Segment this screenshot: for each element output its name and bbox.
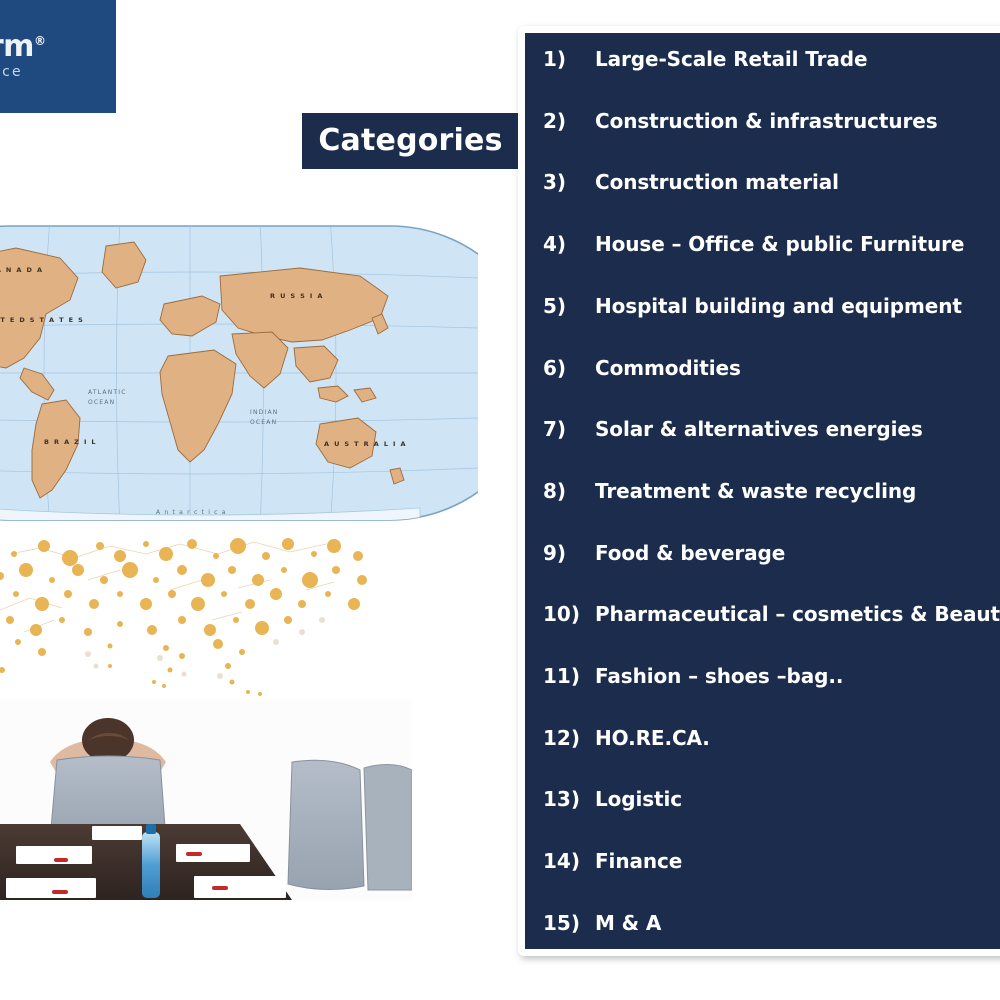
list-item-number: 5)	[543, 294, 595, 318]
list-item[interactable]: 8) Treatment & waste recycling	[525, 479, 1000, 503]
list-item-number: 1)	[543, 47, 595, 71]
list-item-number: 14)	[543, 849, 595, 873]
categories-panel: 1) Large-Scale Retail Trade 2) Construct…	[518, 26, 1000, 956]
chair-right-1	[288, 760, 364, 889]
list-item-number: 8)	[543, 479, 595, 503]
list-item[interactable]: 13) Logistic	[525, 787, 1000, 811]
list-item-number: 9)	[543, 541, 595, 565]
list-item[interactable]: 4) House – Office & public Furniture	[525, 232, 1000, 256]
list-item-number: 10)	[543, 602, 595, 626]
chair-right-2	[364, 764, 412, 890]
svg-text:C A N A D A: C A N A D A	[0, 266, 43, 274]
list-item[interactable]: 10) Pharmaceutical – cosmetics & Beauty	[525, 602, 1000, 626]
list-item[interactable]: 5) Hospital building and equipment	[525, 294, 1000, 318]
world-map-image: R U S S I A C A N A D A U N I T E D S T …	[0, 218, 478, 528]
list-item-label: Large-Scale Retail Trade	[595, 47, 867, 71]
svg-text:INDIAN: INDIAN	[250, 409, 278, 416]
list-item[interactable]: 7) Solar & alternatives energies	[525, 417, 1000, 441]
svg-text:OCEAN: OCEAN	[88, 399, 115, 406]
list-item-label: Logistic	[595, 787, 682, 811]
svg-text:ATLANTIC: ATLANTIC	[88, 389, 127, 396]
list-item[interactable]: 1) Large-Scale Retail Trade	[525, 47, 1000, 71]
page-title-bar: Categories	[302, 113, 519, 169]
list-item-number: 12)	[543, 726, 595, 750]
svg-text:U N I T E D S T A T E S: U N I T E D S T A T E S	[0, 316, 84, 324]
list-item-label: M & A	[595, 911, 661, 935]
list-item[interactable]: 14) Finance	[525, 849, 1000, 873]
list-item[interactable]: 15) M & A	[525, 911, 1000, 935]
logo-wordmark: Form®	[0, 29, 45, 64]
categories-list: 1) Large-Scale Retail Trade 2) Construct…	[525, 33, 1000, 949]
list-item-number: 3)	[543, 170, 595, 194]
list-item-label: Food & beverage	[595, 541, 785, 565]
svg-text:R U S S I A: R U S S I A	[270, 292, 324, 300]
list-item[interactable]: 6) Commodities	[525, 356, 1000, 380]
logo-wordmark-text: Form	[0, 29, 34, 64]
list-item-label: Fashion – shoes –bag..	[595, 664, 843, 688]
list-item-label: HO.RE.CA.	[595, 726, 710, 750]
list-item-number: 7)	[543, 417, 595, 441]
list-item-number: 13)	[543, 787, 595, 811]
list-item-label: Pharmaceutical – cosmetics & Beauty	[595, 602, 1000, 626]
list-item-number: 6)	[543, 356, 595, 380]
list-item-label: Construction material	[595, 170, 839, 194]
list-item-label: Solar & alternatives energies	[595, 417, 923, 441]
brand-logo[interactable]: Form® t choice	[0, 0, 116, 113]
svg-text:OCEAN: OCEAN	[250, 419, 277, 426]
svg-text:A n t a r c t i c a: A n t a r c t i c a	[156, 509, 227, 516]
list-item[interactable]: 3) Construction material	[525, 170, 1000, 194]
list-item-number: 15)	[543, 911, 595, 935]
list-item[interactable]: 9) Food & beverage	[525, 541, 1000, 565]
logo-tagline: t choice	[0, 64, 23, 80]
list-item-number: 4)	[543, 232, 595, 256]
registered-trademark-icon: ®	[34, 34, 46, 48]
list-item-label: Construction & infrastructures	[595, 109, 938, 133]
list-item-label: Finance	[595, 849, 682, 873]
page-title: Categories	[318, 126, 502, 156]
list-item[interactable]: 12) HO.RE.CA.	[525, 726, 1000, 750]
slide-canvas: Form® t choice Categories	[0, 0, 1000, 1000]
dot-network-world-graphic	[0, 524, 390, 704]
svg-text:A U S T R A L I A: A U S T R A L I A	[324, 440, 407, 448]
list-item-number: 2)	[543, 109, 595, 133]
list-item[interactable]: 2) Construction & infrastructures	[525, 109, 1000, 133]
list-item-label: Hospital building and equipment	[595, 294, 962, 318]
svg-text:B R A Z I L: B R A Z I L	[44, 438, 97, 446]
list-item-label: House – Office & public Furniture	[595, 232, 964, 256]
water-bottle	[142, 824, 160, 898]
list-item-label: Treatment & waste recycling	[595, 479, 916, 503]
list-item[interactable]: 11) Fashion – shoes –bag..	[525, 664, 1000, 688]
boardroom-meeting-photo	[0, 700, 412, 900]
list-item-number: 11)	[543, 664, 595, 688]
list-item-label: Commodities	[595, 356, 741, 380]
